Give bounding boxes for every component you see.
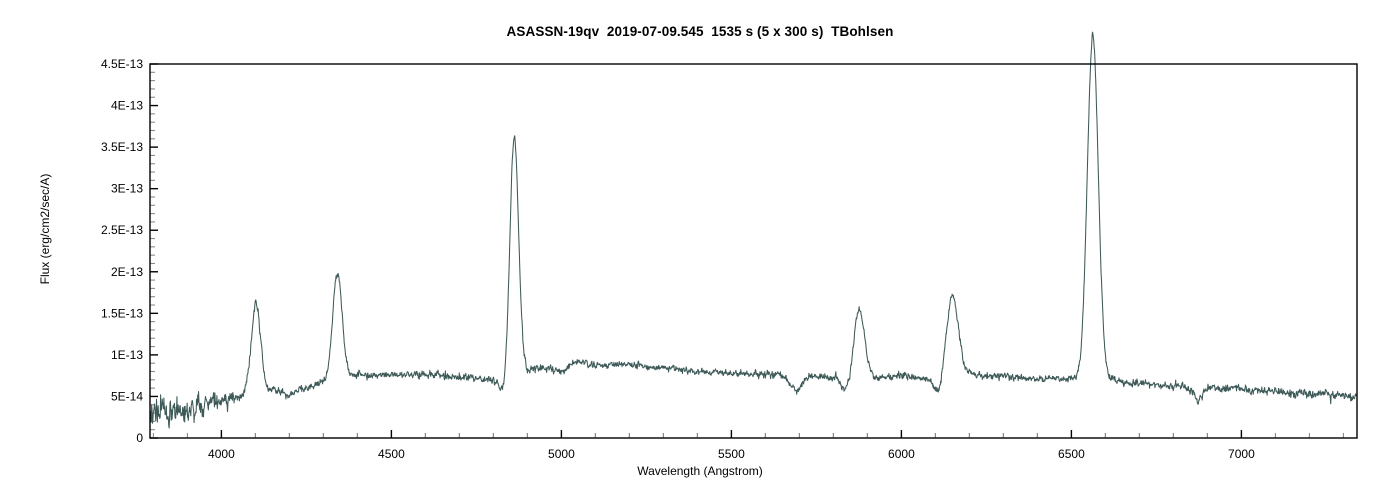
x-tick-label: 6500 <box>1058 447 1085 461</box>
x-tick-label: 7000 <box>1228 447 1255 461</box>
x-tick-label: 6000 <box>888 447 915 461</box>
y-tick-label: 4.5E-13 <box>101 57 143 71</box>
data-layer <box>150 32 1357 428</box>
y-tick-label: 1E-13 <box>111 348 143 362</box>
y-axis-title: Flux (erg/cm2/sec/A) <box>38 129 52 329</box>
x-tick-label: 4000 <box>208 447 235 461</box>
y-tick-label: 0 <box>136 431 143 445</box>
x-tick-label: 4500 <box>378 447 405 461</box>
spectrum-plot-page: ASASSN-19qv 2019-07-09.545 1535 s (5 x 3… <box>0 0 1400 500</box>
axes-layer: 05E-141E-131.5E-132E-132.5E-133E-133.5E-… <box>101 57 1343 461</box>
y-tick-label: 2E-13 <box>111 265 143 279</box>
y-tick-label: 3E-13 <box>111 182 143 196</box>
x-axis-title: Wavelength (Angstrom) <box>0 464 1400 478</box>
spectrum-line <box>150 32 1357 428</box>
y-tick-label: 1.5E-13 <box>101 306 143 320</box>
x-tick-label: 5000 <box>548 447 575 461</box>
y-tick-label: 3.5E-13 <box>101 140 143 154</box>
y-tick-label: 5E-14 <box>111 389 143 403</box>
y-tick-label: 2.5E-13 <box>101 223 143 237</box>
x-tick-label: 5500 <box>718 447 745 461</box>
y-tick-label: 4E-13 <box>111 99 143 113</box>
spectrum-chart: 05E-141E-131.5E-132E-132.5E-133E-133.5E-… <box>0 0 1400 500</box>
